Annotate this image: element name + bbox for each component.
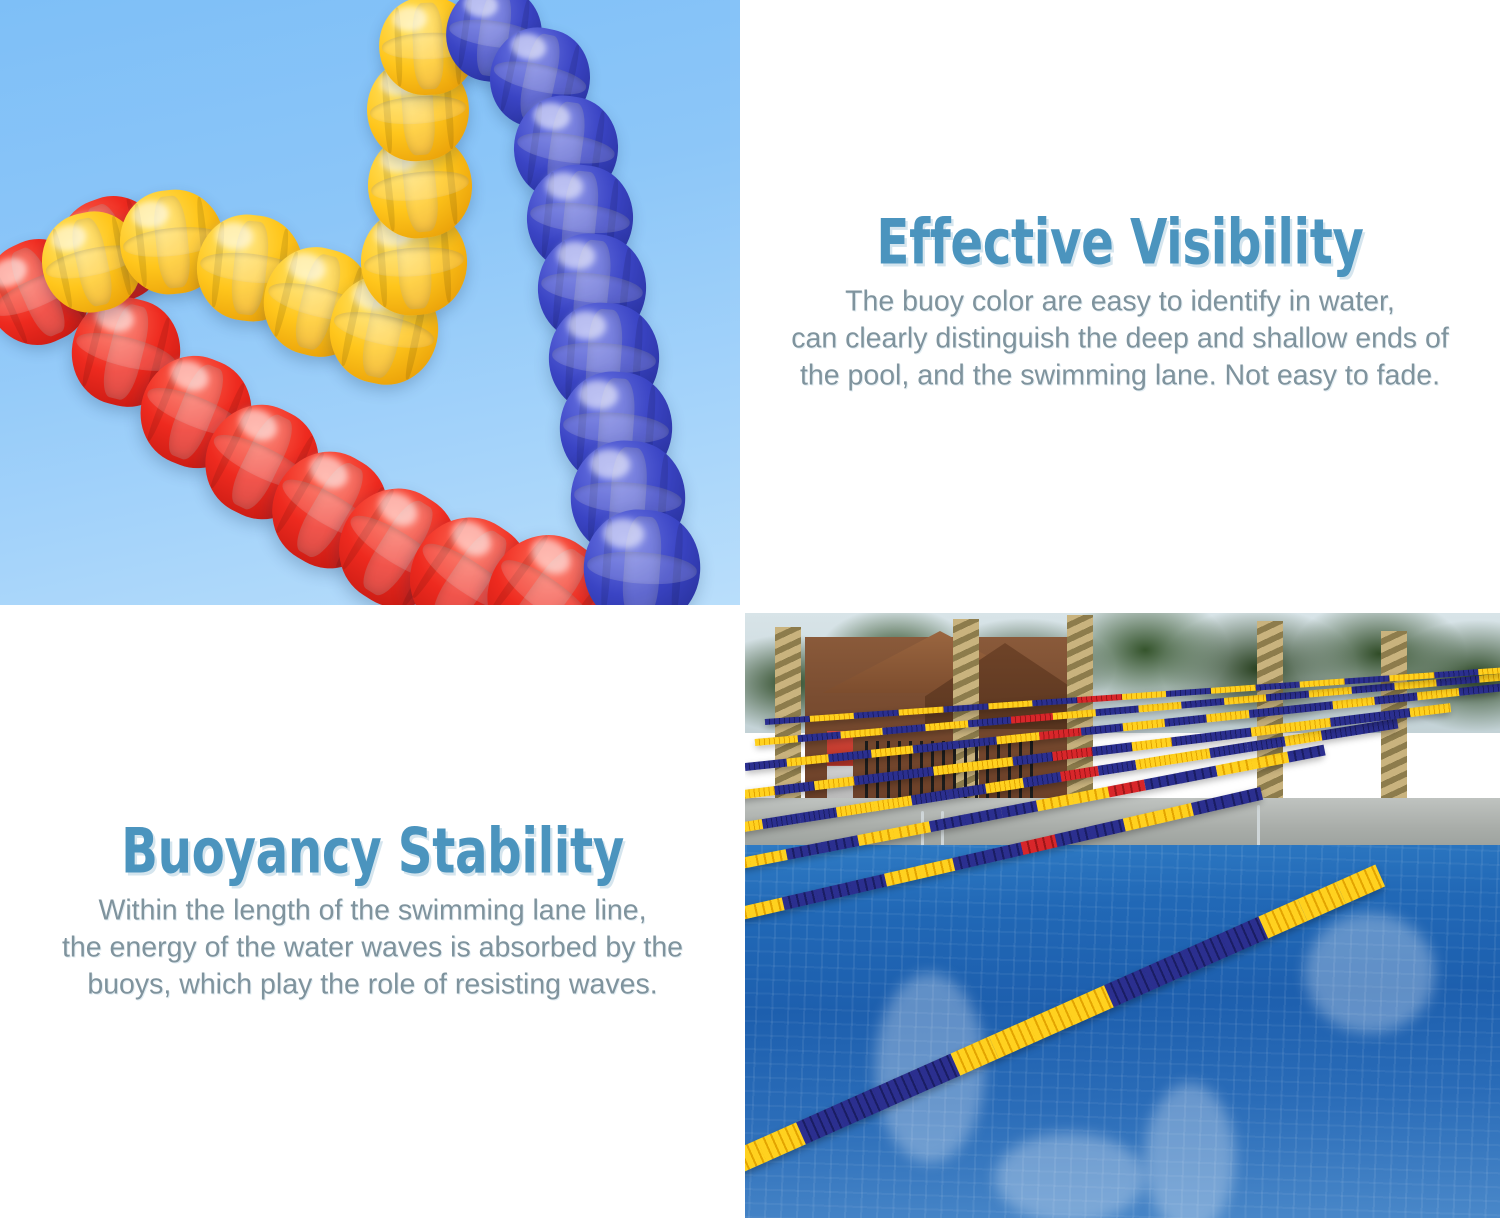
water-reflection [995, 1133, 1145, 1218]
feature-body-effective-visibility: The buoy color are easy to identify in w… [754, 283, 1486, 394]
feature-heading-buoyancy-stability: Buoyancy Stability [93, 820, 652, 882]
buoy-highlight [0, 253, 32, 293]
buoy-highlight [165, 355, 213, 396]
feature-panel-buoyancy-stability: Buoyancy Stability Within the length of … [0, 605, 745, 1218]
buoy-highlight [372, 485, 424, 533]
feature-body-line: the energy of the water waves is absorbe… [14, 929, 731, 966]
lifeguard-chair [827, 731, 853, 803]
swimming-pool-photo [745, 613, 1500, 1218]
feature-panel-effective-visibility: Effective Visibility The buoy color are … [740, 0, 1500, 605]
feature-heading-effective-visibility: Effective Visibility [835, 211, 1406, 273]
feature-body-line: buoys, which play the role of resisting … [14, 966, 731, 1003]
buoy-highlight [303, 449, 354, 495]
feature-body-line: Within the length of the swimming lane l… [14, 892, 731, 929]
water-reflection [1305, 913, 1435, 1033]
feature-text-block: Buoyancy Stability Within the length of … [0, 820, 745, 1003]
palm-trunk [775, 627, 801, 827]
buoy-rib [670, 524, 685, 605]
buoy-highlight [233, 403, 282, 447]
feature-body-line: the pool, and the swimming lane. Not eas… [754, 357, 1486, 394]
buoy-highlight [524, 531, 577, 581]
buoy-chain-photo [0, 0, 740, 605]
buoy-highlight [445, 514, 498, 563]
feature-body-buoyancy-stability: Within the length of the swimming lane l… [14, 892, 731, 1003]
feature-body-line: The buoy color are easy to identify in w… [754, 283, 1486, 320]
feature-text-block: Effective Visibility The buoy color are … [740, 211, 1500, 394]
feature-body-line: can clearly distinguish the deep and sha… [754, 320, 1486, 357]
